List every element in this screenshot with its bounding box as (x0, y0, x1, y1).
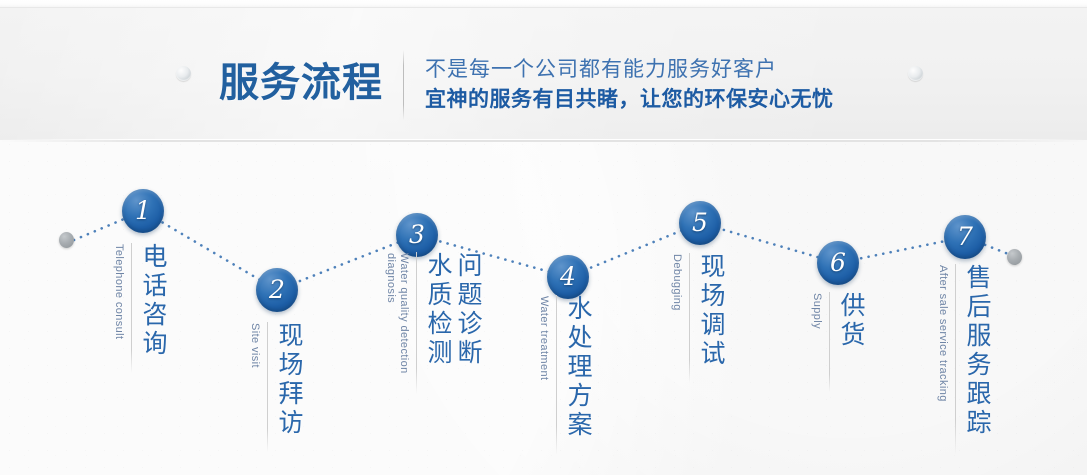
step-node-1[interactable]: 1 (122, 189, 164, 233)
step-label-3[interactable]: Water quality detection diagnosis 问题诊断 水… (384, 252, 483, 394)
step-label-7-en-line-1: After sale service tracking (936, 265, 949, 402)
flow-end-dot (1007, 249, 1022, 265)
step-label-7-en: After sale service tracking (936, 264, 949, 402)
step-label-4-cn-group: 水处理方案 (563, 295, 593, 440)
step-label-5-en: Debugging (670, 253, 683, 311)
step-label-3-divider (416, 252, 417, 394)
step-label-3-en-line-1: Water quality detection (397, 253, 410, 374)
page-title: 服务流程 (219, 50, 383, 108)
banner-subtitle: 不是每一个公司都有能力服务好客户 宜神的服务有目共睹，让您的环保安心无忧 (425, 55, 834, 115)
step-node-5[interactable]: 5 (679, 201, 721, 245)
step-label-1-en-line-1: Telephone consult (112, 244, 125, 339)
flow-start-dot (59, 232, 74, 248)
step-label-4-en-line-1: Water treatment (537, 296, 550, 380)
step-label-1-cn-col-1: 电话咨询 (138, 243, 168, 359)
step-label-3-en-line-2: diagnosis (384, 253, 397, 374)
step-number-5: 5 (692, 210, 708, 235)
step-label-7-cn-group: 售后服务跟踪 (962, 264, 992, 438)
step-label-2-en: Site visit (248, 322, 261, 368)
step-label-6-divider (829, 292, 830, 392)
step-label-6-cn-group: 供货 (836, 292, 866, 350)
top-edge-strip (0, 0, 1087, 7)
subtitle-line-2: 宜神的服务有目共睹，让您的环保安心无忧 (425, 83, 834, 115)
step-number-3: 3 (409, 222, 425, 247)
step-label-1-cn-group: 电话咨询 (138, 243, 168, 359)
rivet-icon-right (908, 66, 923, 81)
step-node-3[interactable]: 3 (396, 213, 438, 257)
step-label-5-divider (689, 253, 690, 383)
step-label-1[interactable]: Telephone consult 电话咨询 (112, 243, 168, 373)
step-node-7[interactable]: 7 (944, 215, 986, 259)
step-label-4-en: Water treatment (537, 295, 550, 380)
step-label-2[interactable]: Site visit 现场拜访 (248, 322, 304, 452)
step-label-5-cn-col-1: 现场调试 (696, 253, 726, 369)
step-label-6-en-line-1: Supply (810, 293, 823, 329)
step-label-3-cn-col-1: 水质检测 (423, 252, 453, 368)
title-divider (403, 50, 404, 120)
step-label-2-cn-col-1: 现场拜访 (274, 322, 304, 438)
step-label-2-en-line-1: Site visit (248, 323, 261, 368)
step-label-1-en: Telephone consult (112, 243, 125, 339)
step-label-7[interactable]: After sale service tracking 售后服务跟踪 (936, 264, 992, 454)
step-number-4: 4 (560, 264, 576, 289)
rivet-icon-left (176, 66, 191, 81)
step-number-6: 6 (830, 250, 846, 275)
step-label-4-divider (556, 295, 557, 455)
step-label-5[interactable]: Debugging 现场调试 (670, 253, 726, 383)
step-label-4[interactable]: Water treatment 水处理方案 (537, 295, 593, 455)
step-label-6-en: Supply (810, 292, 823, 329)
step-label-7-cn-col-1: 售后服务跟踪 (962, 264, 992, 438)
step-label-3-en: Water quality detection diagnosis (384, 252, 410, 374)
step-number-1: 1 (135, 198, 151, 223)
step-node-6[interactable]: 6 (817, 241, 859, 285)
step-label-6[interactable]: Supply 供货 (810, 292, 866, 392)
step-label-5-en-line-1: Debugging (670, 254, 683, 311)
step-node-2[interactable]: 2 (256, 268, 298, 312)
step-label-2-cn-group: 现场拜访 (274, 322, 304, 438)
step-label-7-divider (955, 264, 956, 454)
step-label-3-cn-group: 问题诊断 水质检测 (423, 252, 483, 368)
subtitle-line-1: 不是每一个公司都有能力服务好客户 (425, 55, 834, 83)
step-number-2: 2 (269, 277, 285, 302)
step-node-4[interactable]: 4 (547, 255, 589, 299)
service-process-section: 服务流程 不是每一个公司都有能力服务好客户 宜神的服务有目共睹，让您的环保安心无… (0, 0, 1087, 475)
step-label-3-cn-col-2: 问题诊断 (453, 252, 483, 368)
step-label-4-cn-col-1: 水处理方案 (563, 295, 593, 440)
step-label-1-divider (131, 243, 132, 373)
step-label-6-cn-col-1: 供货 (836, 292, 866, 350)
process-flow: 1 2 3 4 5 6 7 Telephone consult 电话咨询 Sit… (0, 140, 1087, 475)
step-label-2-divider (267, 322, 268, 452)
step-label-5-cn-group: 现场调试 (696, 253, 726, 369)
step-number-7: 7 (957, 224, 973, 249)
